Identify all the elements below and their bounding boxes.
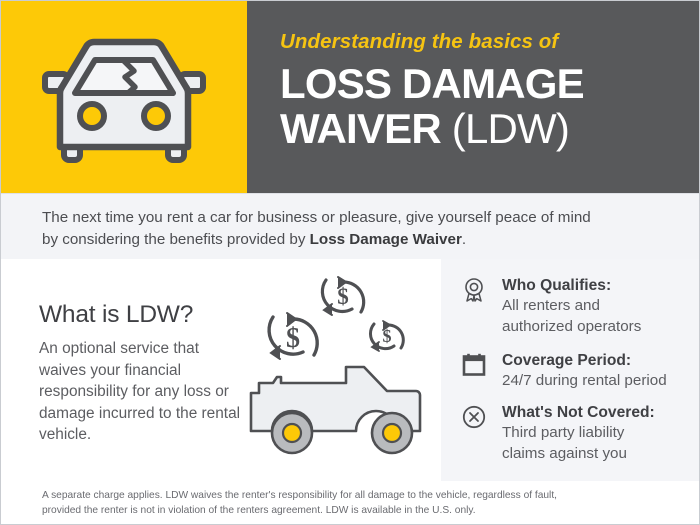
- facts-panel: Who Qualifies: All renters and authorize…: [441, 259, 700, 481]
- fact-desc-line-2: claims against you: [502, 444, 699, 465]
- fact-coverage-period: Coverage Period: 24/7 during rental peri…: [461, 351, 699, 392]
- fact-text-group: Coverage Period: 24/7 during rental peri…: [502, 351, 699, 392]
- svg-text:$: $: [337, 284, 349, 309]
- header-text-group: Understanding the basics of LOSS DAMAGE …: [280, 29, 690, 151]
- header-title-line-1: LOSS DAMAGE: [280, 61, 690, 106]
- intro-band: The next time you rent a car for busines…: [1, 193, 700, 259]
- dollar-cycle-right: $: [370, 321, 403, 351]
- pickup-truck-with-money-cycle-icon: $ $ $: [244, 271, 444, 466]
- fact-desc-line-1: Third party liability: [502, 423, 699, 444]
- intro-line-1: The next time you rent a car for busines…: [42, 209, 591, 226]
- fact-title: Who Qualifies:: [502, 276, 699, 296]
- fact-who-qualifies: Who Qualifies: All renters and authorize…: [461, 276, 699, 337]
- header-yellow-block: [1, 1, 247, 193]
- header-title-abbrev: (LDW): [452, 105, 569, 152]
- calendar-icon: [461, 352, 487, 378]
- fact-desc-line-2: authorized operators: [502, 317, 699, 338]
- fact-text-group: What's Not Covered: Third party liabilit…: [502, 403, 699, 464]
- header-eyebrow: Understanding the basics of: [280, 29, 690, 55]
- what-is-ldw-block: What is LDW? An optional service that wa…: [39, 301, 249, 446]
- dollar-cycle-left: $: [269, 313, 317, 359]
- header-title-waiver: WAIVER: [280, 105, 452, 152]
- intro-line-2-suffix: .: [462, 231, 466, 248]
- intro-paragraph: The next time you rent a car for busines…: [42, 207, 672, 251]
- fact-desc-line-1: All renters and: [502, 296, 699, 317]
- cracked-windshield-car-icon: [27, 27, 221, 167]
- fact-title: Coverage Period:: [502, 351, 699, 371]
- footer-line-2: provided the renter is not in violation …: [42, 505, 476, 516]
- truck-wheel-rear: [372, 413, 412, 453]
- fact-desc-line-1: 24/7 during rental period: [502, 371, 699, 392]
- header-banner: Understanding the basics of LOSS DAMAGE …: [1, 1, 700, 193]
- main-content: What is LDW? An optional service that wa…: [1, 259, 700, 481]
- svg-text:$: $: [383, 326, 392, 346]
- what-is-ldw-body: An optional service that waives your fin…: [39, 338, 249, 446]
- award-ribbon-icon: [461, 277, 487, 303]
- fact-title: What's Not Covered:: [502, 403, 699, 423]
- infographic-root: Understanding the basics of LOSS DAMAGE …: [0, 0, 700, 525]
- footer-line-1: A separate charge applies. LDW waives th…: [42, 490, 557, 501]
- footer-text: A separate charge applies. LDW waives th…: [42, 489, 662, 518]
- header-title-line-2: WAIVER (LDW): [280, 106, 690, 151]
- fact-whats-not-covered: What's Not Covered: Third party liabilit…: [461, 403, 699, 464]
- fact-text-group: Who Qualifies: All renters and authorize…: [502, 276, 699, 337]
- svg-text:$: $: [286, 323, 300, 354]
- circle-x-icon: [461, 404, 487, 430]
- intro-line-2-bold: Loss Damage Waiver: [310, 231, 462, 248]
- truck-wheel-front: [272, 413, 312, 453]
- intro-line-2-prefix: by considering the benefits provided by: [42, 231, 310, 248]
- footer-disclaimer: A separate charge applies. LDW waives th…: [1, 481, 700, 525]
- what-is-ldw-heading: What is LDW?: [39, 301, 249, 329]
- header-title-strong: LOSS DAMAGE: [280, 60, 584, 107]
- dollar-cycle-top: $: [322, 277, 363, 315]
